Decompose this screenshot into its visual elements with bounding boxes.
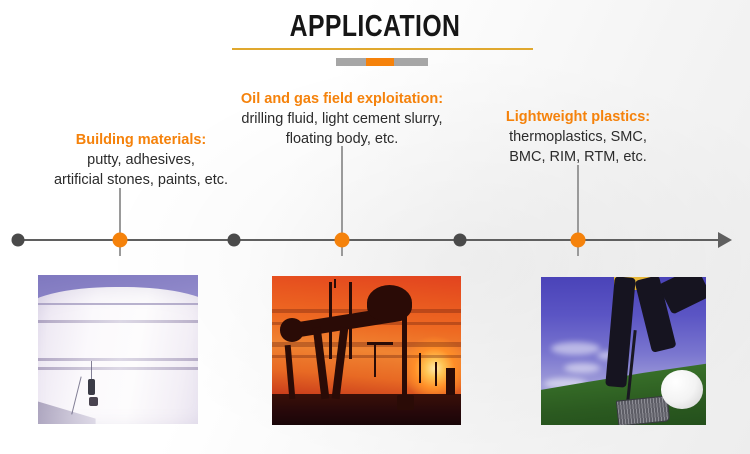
oil-pole-1 xyxy=(374,345,376,378)
application-infographic: APPLICATION Building materials: putty, a… xyxy=(0,0,750,454)
golf-club-head xyxy=(616,396,670,425)
photo-oil-pumpjack xyxy=(272,276,461,425)
page-title: APPLICATION xyxy=(75,8,675,44)
oil-pole-2 xyxy=(419,353,421,383)
tank-worker-gear xyxy=(89,397,98,406)
label-title-oil-and-gas: Oil and gas field exploitation: xyxy=(209,90,475,109)
label-line-oil-and-gas-1: drilling fluid, light cement slurry, xyxy=(209,110,475,129)
tank-band-upper xyxy=(38,320,198,323)
pumpjack-polished-rod xyxy=(402,315,407,401)
label-lightweight-plastics: Lightweight plastics: thermoplastics, SM… xyxy=(470,108,686,167)
tank-top-rail xyxy=(38,303,198,305)
pumpjack-counterweight xyxy=(280,318,305,342)
pumpjack-leg xyxy=(285,344,295,398)
photo-golf xyxy=(541,277,706,425)
label-line-lightweight-plastics-1: thermoplastics, SMC, xyxy=(470,128,686,147)
photo-golf-image xyxy=(541,277,706,425)
photo-storage-tank-image xyxy=(38,275,198,424)
golf-ball xyxy=(661,370,702,408)
pumpjack-wellhead xyxy=(397,395,414,410)
header: APPLICATION xyxy=(0,0,750,78)
label-title-lightweight-plastics: Lightweight plastics: xyxy=(470,108,686,127)
timeline-node-oil-and-gas[interactable] xyxy=(335,233,350,248)
tank-body xyxy=(38,287,198,424)
timeline-arrow-icon xyxy=(718,232,732,248)
timeline-node-spacer-1[interactable] xyxy=(228,234,241,247)
photo-storage-tank xyxy=(38,275,198,424)
pumpjack-sampson-post-left xyxy=(313,326,329,398)
oil-pole-3 xyxy=(435,362,437,386)
title-underline-rule xyxy=(232,48,533,50)
tank-band-middle xyxy=(38,358,198,361)
timeline-node-lightweight-plastics[interactable] xyxy=(571,233,586,248)
timeline-node-start[interactable] xyxy=(12,234,25,247)
timeline-node-building-materials[interactable] xyxy=(113,233,128,248)
accent-segment-orange-center xyxy=(366,58,394,66)
tank-worker xyxy=(88,379,95,395)
label-line-lightweight-plastics-2: BMC, RIM, RTM, etc. xyxy=(470,148,686,167)
label-oil-and-gas: Oil and gas field exploitation: drilling… xyxy=(209,90,475,149)
label-line-building-materials-2: artificial stones, paints, etc. xyxy=(8,171,274,190)
oil-derrick-mast xyxy=(334,279,336,288)
timeline-node-spacer-2[interactable] xyxy=(454,234,467,247)
oil-ground xyxy=(272,394,461,425)
photo-oil-pumpjack-image xyxy=(272,276,461,425)
accent-segment-gray-left xyxy=(336,58,366,66)
accent-bar xyxy=(336,58,428,66)
label-line-building-materials-1: putty, adhesives, xyxy=(8,151,274,170)
oil-crossbeam xyxy=(367,342,393,346)
accent-segment-gray-right xyxy=(394,58,428,66)
oil-tank-far xyxy=(446,368,455,395)
tank-band-middle-2 xyxy=(38,367,198,370)
